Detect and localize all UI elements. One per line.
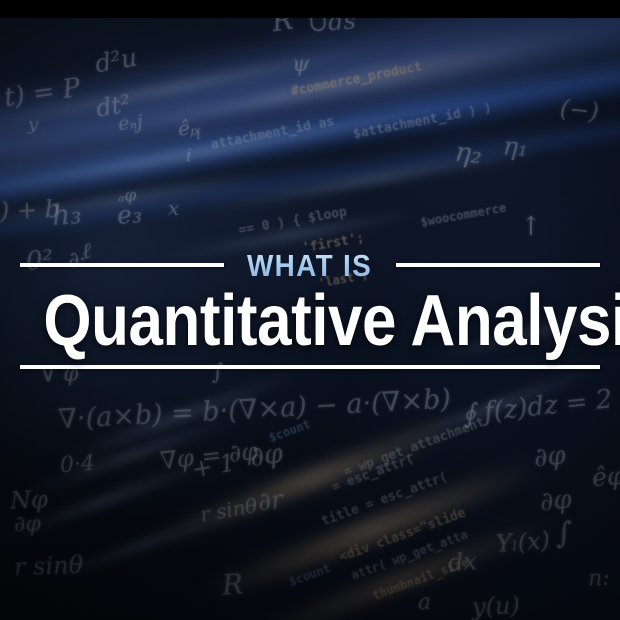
rule-bottom (20, 365, 600, 369)
page-title: Quantitative Analysis? (43, 286, 576, 357)
header-graphic: t) = Pd²udt²eₙjêₚiy) + be₃ₐφh₃xiℓη₂η₁↑(−… (0, 0, 620, 620)
rule-right (396, 263, 600, 267)
title-block: WHAT IS Quantitative Analysis? (0, 248, 620, 369)
rule-left (20, 263, 224, 267)
eyebrow-text: WHAT IS (246, 250, 375, 281)
eyebrow-row: WHAT IS (0, 248, 620, 282)
bottom-rule-wrap (0, 365, 620, 369)
top-black-bar (0, 0, 620, 18)
